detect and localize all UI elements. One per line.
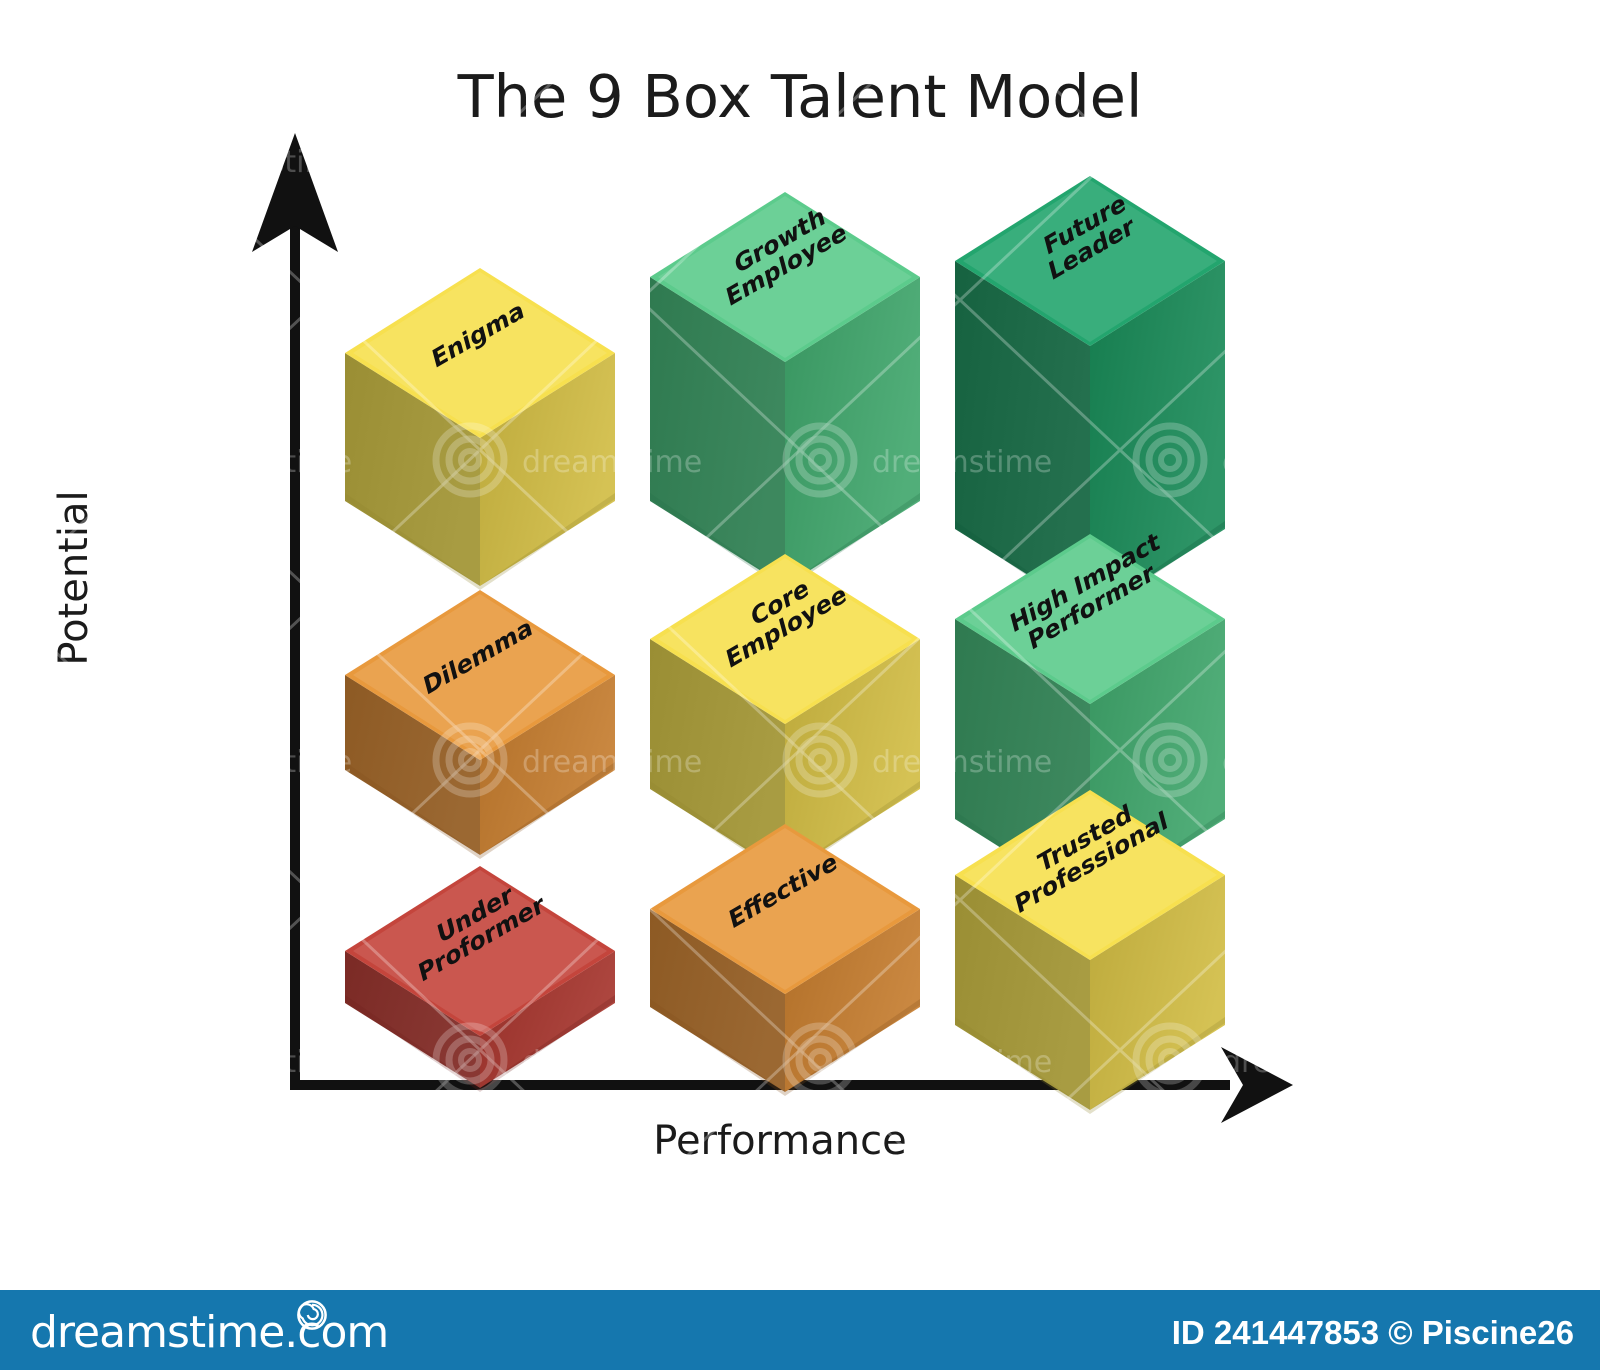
footer-bar: dreamstime.com ID 241447853 © Piscine26 xyxy=(0,1290,1600,1370)
image-id-text: ID 241447853 © Piscine26 xyxy=(1172,1314,1574,1352)
nine-box-grid: Enigma Growth Employee xyxy=(0,0,1600,1290)
box-effective[interactable]: Effective xyxy=(650,824,920,1092)
box-enigma[interactable]: Enigma xyxy=(345,268,615,586)
box-under-proformer[interactable]: Under Proformer xyxy=(345,866,615,1088)
box-growth-employee[interactable]: Growth Employee xyxy=(650,192,920,586)
box-dilemma[interactable]: Dilemma xyxy=(345,590,615,855)
chart-canvas: The 9 Box Talent Model Potential Perform… xyxy=(0,0,1600,1370)
spiral-icon xyxy=(295,1298,329,1332)
box-trusted-professional[interactable]: Trusted Professional xyxy=(955,790,1225,1110)
dreamstime-logo: dreamstime.com xyxy=(30,1307,388,1358)
